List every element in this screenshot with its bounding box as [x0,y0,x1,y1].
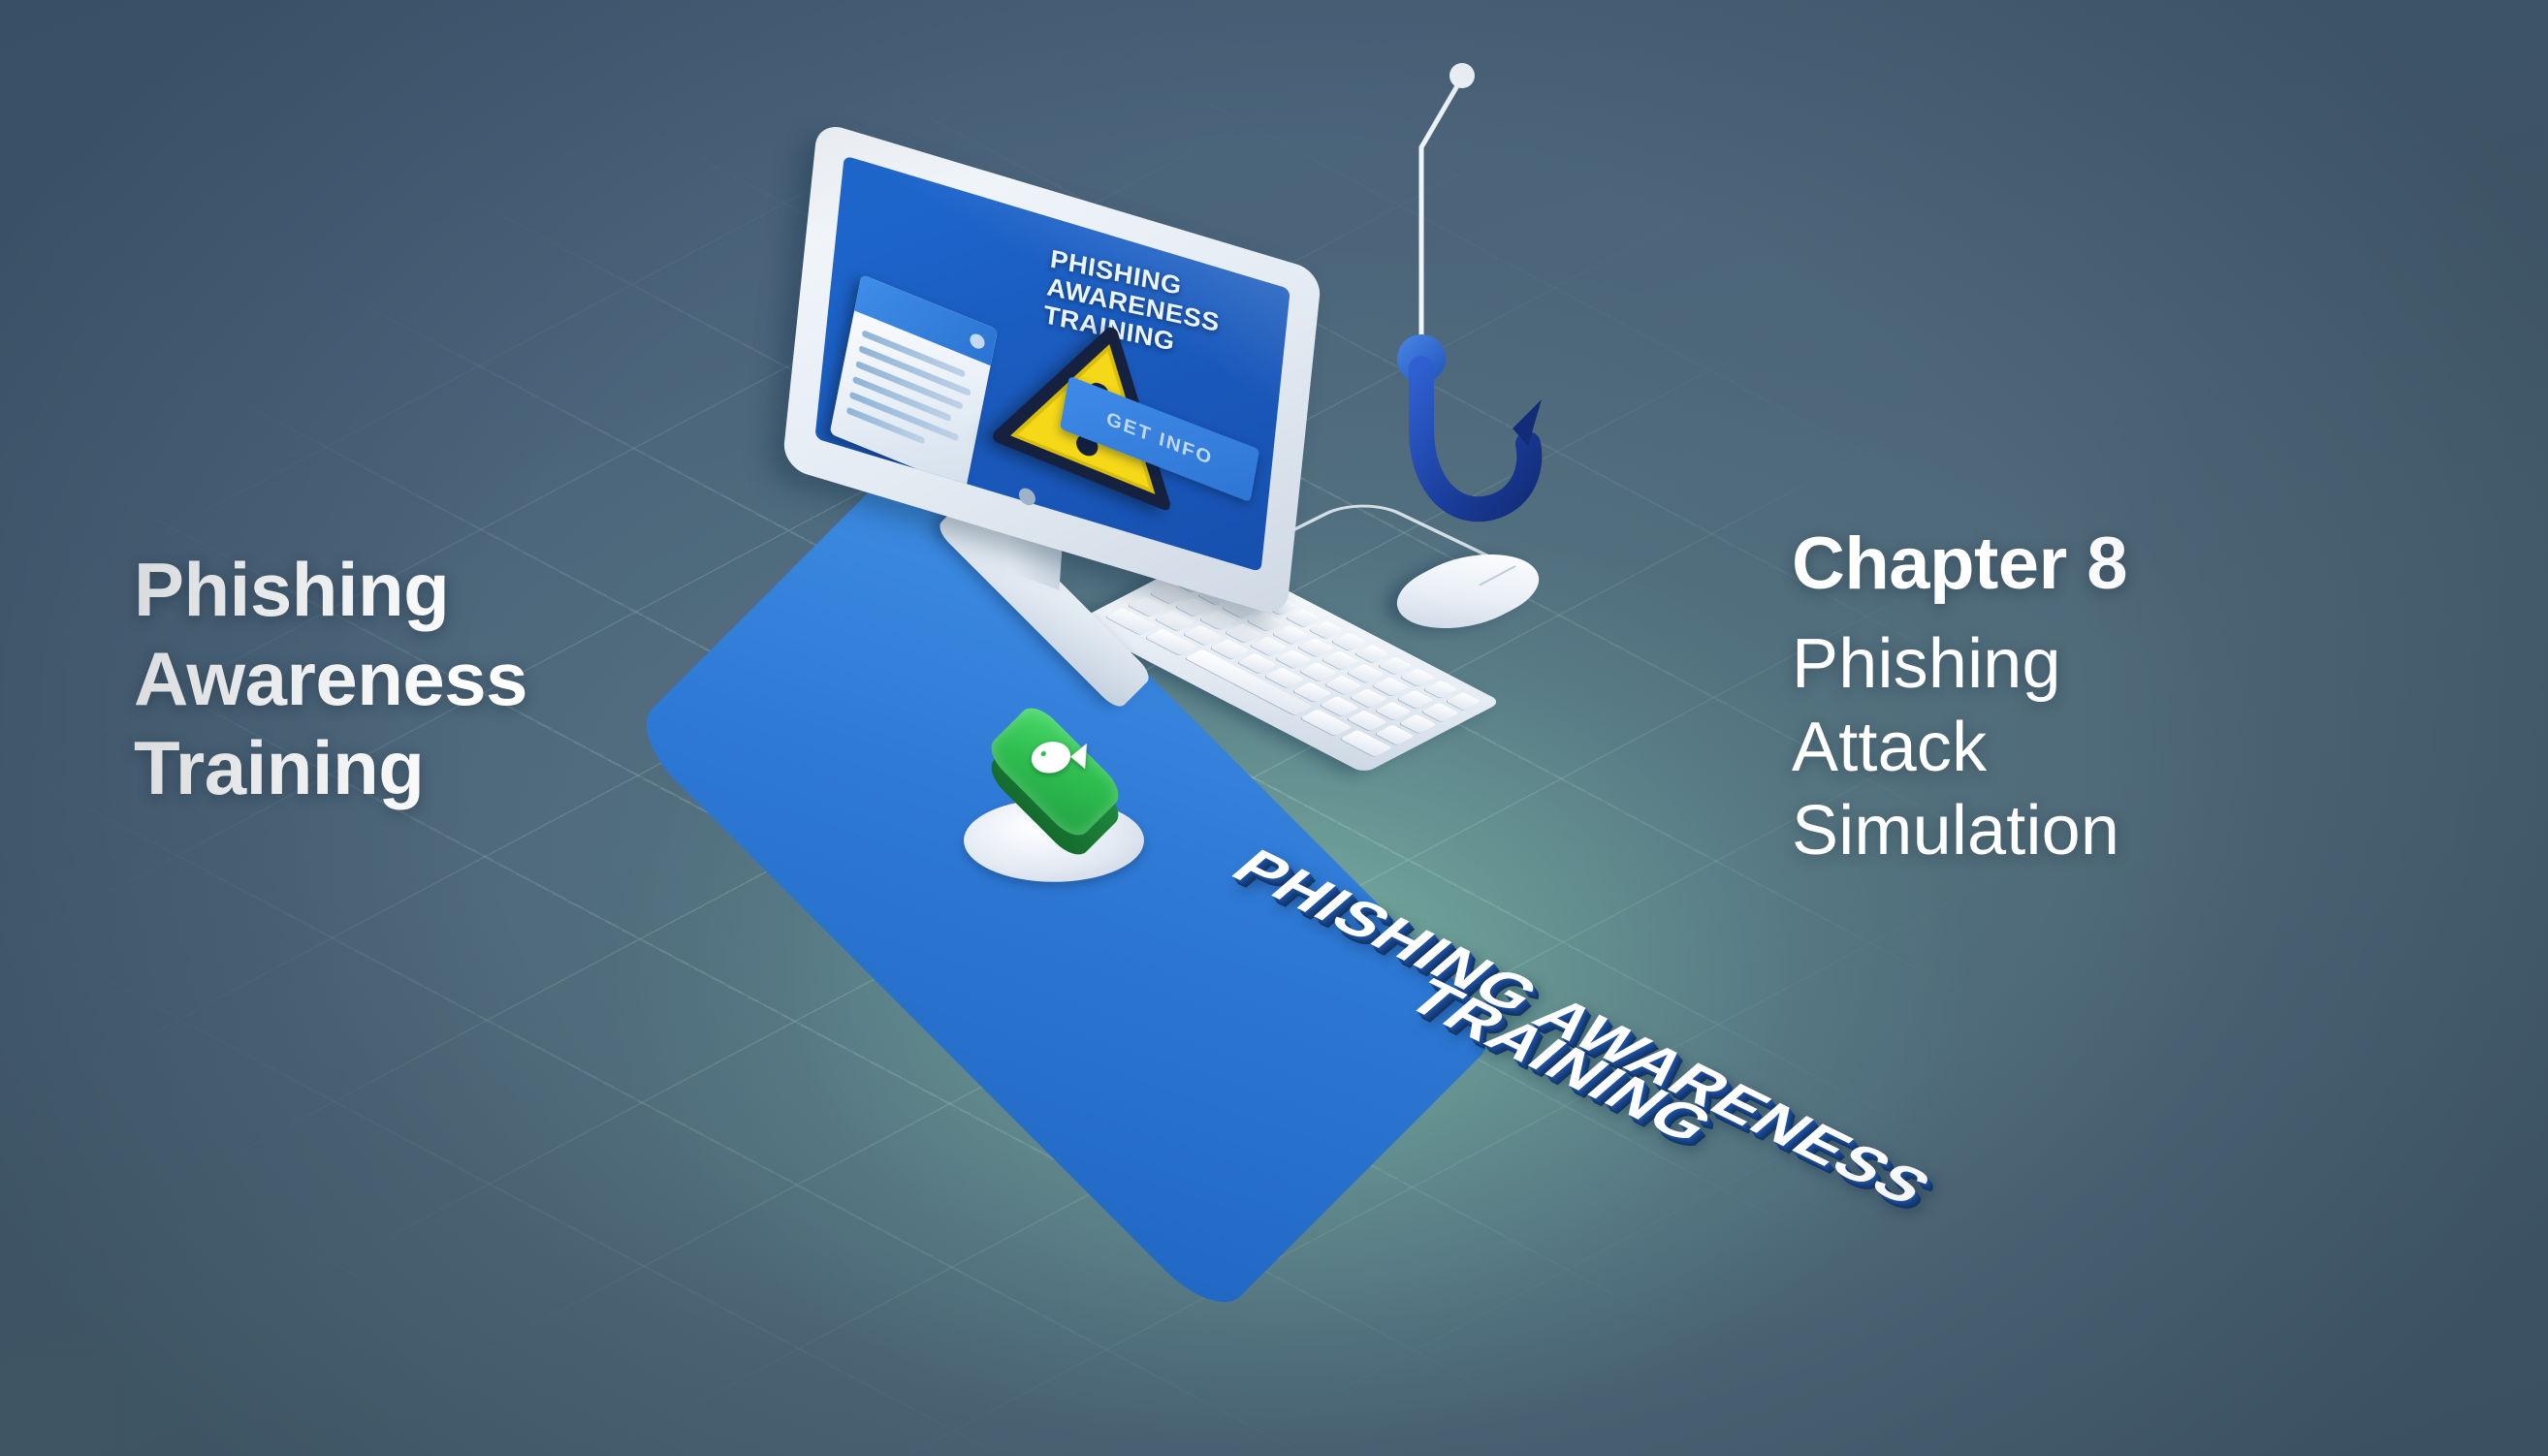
fish-icon [1026,736,1091,779]
key [1354,645,1390,663]
chapter-heading: Chapter 8 [1792,523,2470,605]
chapter-subtitle-line-3: Simulation [1792,789,2470,872]
key [1446,692,1481,711]
key [1400,668,1436,686]
email-document-icon [830,274,999,489]
key [1378,656,1414,675]
monitor-frame: PHISHING AWARENESS TRAINING [781,120,1322,617]
isometric-illustration: PHISHING AWARENESS TRAINING [834,97,1726,1134]
key [1423,681,1459,699]
fish-button[interactable] [958,690,1152,855]
monitor-screen[interactable]: PHISHING AWARENESS TRAINING [814,155,1290,572]
chapter-subtitle-line-2: Attack [1792,706,2470,789]
monitor: PHISHING AWARENESS TRAINING [800,189,1343,654]
chapter-subtitle-line-1: Phishing [1792,622,2470,706]
right-panel: Chapter 8 Phishing Attack Simulation [1792,523,2470,873]
mouse-seam [1479,566,1516,586]
slide-canvas: Phishing Awareness Training Chapter 8 Ph… [0,0,2548,1456]
fishing-hook-icon [1338,60,1590,564]
document-dot [969,332,986,351]
